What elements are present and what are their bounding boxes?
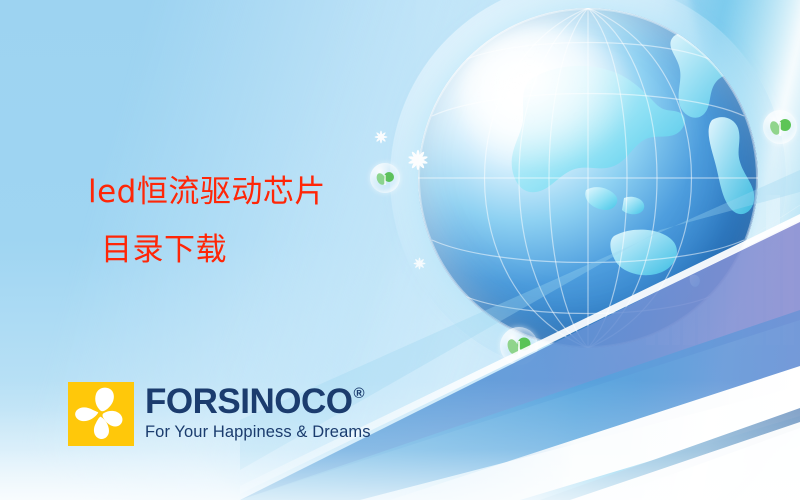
logo-wordmark: FORSINOCO ® — [145, 384, 371, 420]
starburst-flower-icon — [373, 129, 389, 145]
headline-line-2: 目录下载 — [88, 221, 418, 279]
logo-text-block: FORSINOCO ® For Your Happiness & Dreams — [145, 382, 371, 442]
headline-line-1: led恒流驱动芯片 — [88, 163, 418, 221]
forsinoco-pinwheel-mark — [68, 382, 134, 446]
company-logo: FORSINOCO ® For Your Happiness & Dreams — [68, 382, 371, 446]
bubble-sprout-icon — [763, 110, 797, 144]
promo-banner: led恒流驱动芯片 目录下载 FORSINOCO ® For Your Happ… — [0, 0, 800, 500]
logo-name: FORSINOCO — [145, 384, 352, 420]
headline: led恒流驱动芯片 目录下载 — [88, 163, 418, 279]
registered-trademark-icon: ® — [353, 386, 364, 401]
logo-tagline: For Your Happiness & Dreams — [145, 422, 371, 442]
